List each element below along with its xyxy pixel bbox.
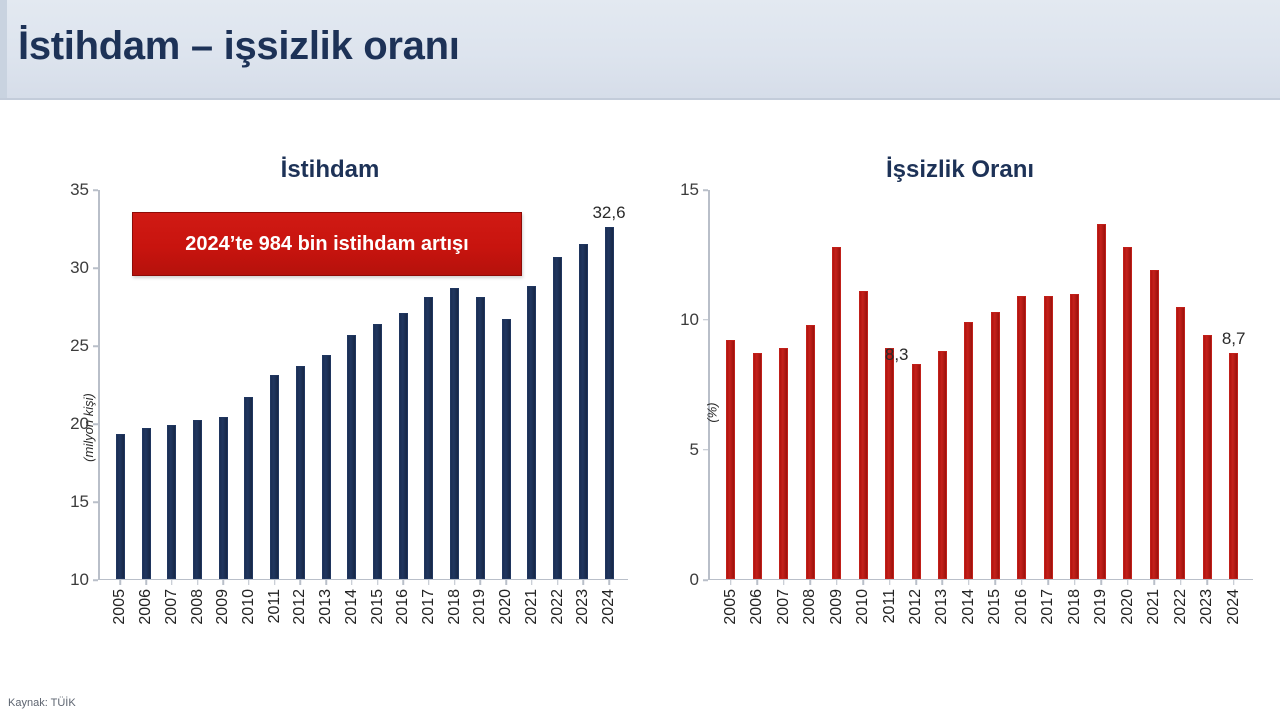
x-tick-label-2022: 2022 (549, 589, 567, 625)
bar-2024: 32,6 (605, 227, 614, 578)
plot-area-issizlik: (%) 151050 20052006200720082009201020112… (708, 190, 1253, 580)
bar-slot: 2007 (770, 190, 796, 579)
bar-2019 (476, 297, 485, 578)
bar-slot: 2005 (718, 190, 744, 579)
bar-2006 (142, 428, 151, 579)
x-tick-mark (171, 580, 173, 585)
x-tick-label-2020: 2020 (1119, 589, 1137, 625)
bar-slot: 2011 (876, 190, 902, 579)
source-note: Kaynak: TÜİK (8, 697, 76, 709)
bar-2005 (726, 340, 735, 578)
y-tick-mark (93, 423, 98, 425)
x-tick-mark (730, 580, 732, 585)
x-tick-label-2010: 2010 (854, 589, 872, 625)
x-tick-label-2005: 2005 (111, 589, 129, 625)
chart-title-istihdam: İstihdam (10, 156, 670, 184)
x-tick-mark (248, 580, 250, 585)
bar-2023 (1203, 335, 1212, 578)
bar-2017 (1044, 296, 1053, 578)
x-tick-mark (351, 580, 353, 585)
x-tick-label-2014: 2014 (960, 589, 978, 625)
y-tick-label: 15 (70, 492, 89, 512)
bar-2013 (938, 351, 947, 579)
y-tick-mark (703, 579, 708, 581)
x-tick-mark (557, 580, 559, 585)
bar-slot: 2013 (929, 190, 955, 579)
x-tick-label-2020: 2020 (497, 589, 515, 625)
y-tick-label: 30 (70, 258, 89, 278)
bar-2021 (527, 286, 536, 578)
bar-2020 (1123, 247, 1132, 579)
x-tick-label-2012: 2012 (291, 589, 309, 625)
bar-slot: 20128,3 (903, 190, 929, 579)
x-tick-label-2010: 2010 (240, 589, 258, 625)
x-tick-label-2013: 2013 (317, 589, 335, 625)
x-tick-label-2017: 2017 (1039, 589, 1057, 625)
x-tick-mark (1127, 580, 1129, 585)
y-tick-mark (703, 449, 708, 451)
charts-area: İstihdam (milyon kişi) 353025201510 2005… (0, 100, 1280, 720)
bar-value-label-2024: 32,6 (592, 203, 625, 223)
x-tick-label-2012: 2012 (907, 589, 925, 625)
x-tick-label-2008: 2008 (189, 589, 207, 625)
x-tick-mark (145, 580, 147, 585)
x-tick-mark (1048, 580, 1050, 585)
x-tick-mark (889, 580, 891, 585)
bar-slot: 2005 (108, 190, 134, 579)
bar-slot: 2009 (823, 190, 849, 579)
y-tick-mark (93, 345, 98, 347)
x-tick-mark (505, 580, 507, 585)
x-tick-label-2006: 2006 (748, 589, 766, 625)
bar-2007 (167, 425, 176, 579)
bar-slot: 202432,6 (596, 190, 622, 579)
bar-2006 (753, 353, 762, 578)
x-tick-label-2024: 2024 (1225, 589, 1243, 625)
bar-2017 (424, 297, 433, 578)
x-tick-label-2011: 2011 (266, 589, 284, 623)
bar-2007 (779, 348, 788, 579)
x-tick-mark (120, 580, 122, 585)
chart-title-issizlik: İşsizlik Oranı (650, 156, 1280, 184)
x-tick-label-2015: 2015 (986, 589, 1004, 625)
x-tick-mark (583, 580, 585, 585)
x-tick-label-2019: 2019 (471, 589, 489, 625)
bar-slot: 2018 (1062, 190, 1088, 579)
bar-slot: 2022 (545, 190, 571, 579)
chart-panel-issizlik: İşsizlik Oranı (%) 151050 20052006200720… (650, 100, 1270, 660)
x-tick-mark (783, 580, 785, 585)
x-tick-mark (197, 580, 199, 585)
x-tick-label-2014: 2014 (343, 589, 361, 625)
bar-slot: 2015 (982, 190, 1008, 579)
page-title: İstihdam – işsizlik oranı (18, 24, 460, 69)
x-tick-mark (1206, 580, 1208, 585)
x-tick-mark (428, 580, 430, 585)
callout-banner: 2024’te 984 bin istihdam artışı (132, 212, 522, 276)
bar-2024: 8,7 (1229, 353, 1238, 578)
bar-slot: 2006 (744, 190, 770, 579)
x-tick-label-2016: 2016 (394, 589, 412, 625)
y-tick-label: 0 (690, 570, 699, 590)
x-tick-label-2023: 2023 (574, 589, 592, 625)
bar-2022 (1176, 307, 1185, 579)
x-tick-mark (862, 580, 864, 585)
bar-2008 (193, 420, 202, 579)
bar-slot: 2022 (1167, 190, 1193, 579)
x-tick-label-2009: 2009 (214, 589, 232, 625)
x-tick-mark (222, 580, 224, 585)
y-tick-label: 10 (70, 570, 89, 590)
y-tick-mark (703, 189, 708, 191)
x-tick-label-2011: 2011 (881, 589, 899, 623)
x-tick-mark (915, 580, 917, 585)
x-tick-mark (1153, 580, 1155, 585)
x-tick-mark (325, 580, 327, 585)
x-tick-label-2018: 2018 (446, 589, 464, 625)
x-tick-mark (531, 580, 533, 585)
callout-text: 2024’te 984 bin istihdam artışı (185, 233, 468, 256)
x-tick-label-2016: 2016 (1013, 589, 1031, 625)
x-tick-label-2007: 2007 (163, 589, 181, 625)
x-tick-label-2007: 2007 (775, 589, 793, 625)
y-tick-mark (93, 579, 98, 581)
bar-2005 (116, 434, 125, 579)
x-tick-mark (403, 580, 405, 585)
y-tick-label: 5 (690, 440, 699, 460)
bar-value-label-2024: 8,7 (1222, 329, 1246, 349)
y-tick-label: 35 (70, 180, 89, 200)
x-tick-label-2009: 2009 (828, 589, 846, 625)
bar-slot: 2008 (797, 190, 823, 579)
x-tick-mark (377, 580, 379, 585)
bar-2009 (832, 247, 841, 579)
x-axis-line-istihdam (98, 579, 628, 581)
y-tick-mark (93, 189, 98, 191)
y-tick-mark (93, 501, 98, 503)
x-tick-label-2023: 2023 (1198, 589, 1216, 625)
bar-2012: 8,3 (912, 364, 921, 579)
x-tick-label-2008: 2008 (801, 589, 819, 625)
x-tick-mark (274, 580, 276, 585)
bar-slot: 2017 (1035, 190, 1061, 579)
x-axis-line-issizlik (708, 579, 1253, 581)
bar-2018 (450, 288, 459, 579)
bar-slot: 2021 (519, 190, 545, 579)
bar-2010 (244, 397, 253, 579)
bar-2023 (579, 244, 588, 578)
bar-slot: 2023 (1194, 190, 1220, 579)
bar-2015 (991, 312, 1000, 579)
bar-2022 (553, 257, 562, 579)
x-tick-mark (1180, 580, 1182, 585)
x-tick-mark (1021, 580, 1023, 585)
bar-2020 (502, 319, 511, 579)
y-tick-label: 15 (680, 180, 699, 200)
x-tick-mark (968, 580, 970, 585)
bar-2016 (1017, 296, 1026, 578)
x-tick-mark (756, 580, 758, 585)
bar-2021 (1150, 270, 1159, 578)
x-tick-mark (480, 580, 482, 585)
x-tick-mark (454, 580, 456, 585)
bar-2013 (322, 355, 331, 579)
bar-2011 (885, 348, 894, 579)
x-tick-mark (809, 580, 811, 585)
y-tick-mark (93, 267, 98, 269)
bar-slot: 2014 (956, 190, 982, 579)
bar-slot: 20248,7 (1220, 190, 1246, 579)
bar-2019 (1097, 224, 1106, 579)
bar-group-issizlik: 200520062007200820092010201120128,320132… (710, 190, 1254, 579)
x-tick-label-2019: 2019 (1092, 589, 1110, 625)
bar-2015 (373, 324, 382, 579)
y-tick-label: 10 (680, 310, 699, 330)
bar-slot: 2019 (1088, 190, 1114, 579)
x-tick-label-2022: 2022 (1172, 589, 1190, 625)
x-tick-mark (1101, 580, 1103, 585)
x-tick-mark (608, 580, 610, 585)
bar-2008 (806, 325, 815, 579)
y-tick-mark (703, 319, 708, 321)
x-tick-mark (300, 580, 302, 585)
bar-2011 (270, 375, 279, 579)
bar-2014 (964, 322, 973, 578)
x-tick-mark (836, 580, 838, 585)
bar-2012 (296, 366, 305, 579)
bar-2018 (1070, 294, 1079, 579)
x-tick-label-2013: 2013 (933, 589, 951, 625)
x-tick-mark (1233, 580, 1235, 585)
bar-slot: 2010 (850, 190, 876, 579)
bar-value-label-2012: 8,3 (885, 345, 909, 365)
x-tick-mark (1074, 580, 1076, 585)
y-tick-label: 20 (70, 414, 89, 434)
bar-slot: 2016 (1009, 190, 1035, 579)
header-band: İstihdam – işsizlik oranı (0, 0, 1280, 100)
bar-2010 (859, 291, 868, 578)
x-tick-label-2005: 2005 (722, 589, 740, 625)
bar-2014 (347, 335, 356, 579)
x-tick-label-2021: 2021 (523, 589, 541, 625)
x-tick-mark (942, 580, 944, 585)
x-tick-mark (995, 580, 997, 585)
x-tick-label-2017: 2017 (420, 589, 438, 625)
y-tick-label: 25 (70, 336, 89, 356)
bar-2009 (219, 417, 228, 579)
x-tick-label-2015: 2015 (369, 589, 387, 625)
x-tick-label-2018: 2018 (1066, 589, 1084, 625)
chart-panel-istihdam: İstihdam (milyon kişi) 353025201510 2005… (10, 100, 650, 660)
x-tick-label-2021: 2021 (1145, 589, 1163, 625)
x-tick-label-2006: 2006 (137, 589, 155, 625)
bar-slot: 2021 (1141, 190, 1167, 579)
bar-2016 (399, 313, 408, 579)
x-tick-label-2024: 2024 (600, 589, 618, 625)
bar-slot: 2023 (570, 190, 596, 579)
bar-slot: 2020 (1115, 190, 1141, 579)
